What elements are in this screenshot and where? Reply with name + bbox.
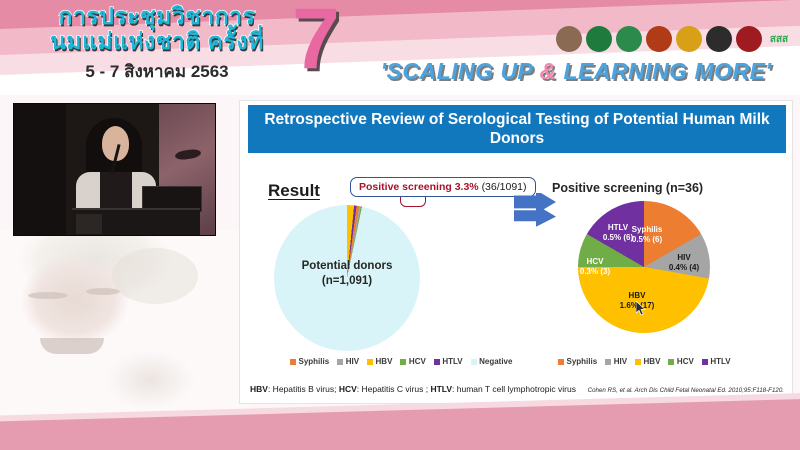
health-dept-logo — [616, 26, 642, 52]
callout-fraction: (36/1091) — [482, 181, 527, 193]
right-arrow-icon — [512, 193, 558, 233]
legend-label: HCV — [677, 357, 694, 366]
slice-label-htlv-value: 0.5% (6) — [596, 233, 640, 243]
legend-label: Syphilis — [299, 357, 330, 366]
legend-swatch-icon — [337, 359, 343, 365]
presentation-screen: การประชุมวิชาการ นมแม่แห่งชาติ ครั้งที่ … — [0, 0, 800, 450]
callout-leader-line — [400, 197, 426, 207]
pie-left-center-label: Potential donors (n=1,091) — [274, 259, 420, 289]
footnote-hbv-text: : Hepatitis B virus; — [268, 384, 339, 394]
legend-label: HTLV — [442, 357, 462, 366]
pie-left-label-line2: (n=1,091) — [274, 274, 420, 289]
conference-title-thai-line1: การประชุมวิชาการ — [22, 4, 292, 29]
slice-label-hiv-name: HIV — [662, 253, 706, 263]
legend-swatch-icon — [558, 359, 564, 365]
legend-item-hbv[interactable]: HBV — [367, 357, 392, 366]
slide-footnote: HBV: Hepatitis B virus; HCV: Hepatitis C… — [250, 384, 784, 394]
university-logo — [676, 26, 702, 52]
nurse-council-logo — [706, 26, 732, 52]
legend-label: HCV — [409, 357, 426, 366]
legend-label: HBV — [644, 357, 661, 366]
slice-label-hcv: HCV 0.3% (3) — [574, 257, 616, 277]
legend-item-syphilis[interactable]: Syphilis — [290, 357, 329, 366]
legend-label: HIV — [614, 357, 627, 366]
sponsor-logo-row: สสส — [556, 26, 792, 52]
legend-label: Negative — [479, 357, 512, 366]
slide-panel: Retrospective Review of Serological Test… — [239, 100, 793, 404]
legend-item-htlv[interactable]: HTLV — [434, 357, 463, 366]
legend-item-htlv[interactable]: HTLV — [702, 357, 731, 366]
slice-label-hiv-value: 0.4% (4) — [662, 263, 706, 273]
slice-label-hbv-name: HBV — [612, 291, 662, 301]
legend-item-syphilis[interactable]: Syphilis — [558, 357, 597, 366]
legend-item-hiv[interactable]: HIV — [337, 357, 359, 366]
legend-label: HTLV — [710, 357, 730, 366]
thaihealth-sss-logo: สสส — [766, 26, 792, 52]
legend-item-hbv[interactable]: HBV — [635, 357, 660, 366]
background-baby-photo — [0, 230, 250, 420]
source-citation: Cohen RS, et al. Arch Dis Child Fetal Ne… — [588, 387, 784, 394]
conference-date: 5 - 7 สิงหาคม 2563 — [22, 58, 292, 85]
edition-number: 7 — [292, 0, 340, 82]
legend-swatch-icon — [702, 359, 708, 365]
legend-swatch-icon — [434, 359, 440, 365]
legend-label: HIV — [346, 357, 359, 366]
legend-swatch-icon — [367, 359, 373, 365]
legend-item-hcv[interactable]: HCV — [668, 357, 693, 366]
footnote-htlv-text: : human T cell lymphotropic virus — [452, 384, 576, 394]
pediatric-society-logo — [646, 26, 672, 52]
legend-swatch-icon — [290, 359, 296, 365]
ministry-health-logo — [586, 26, 612, 52]
legend-item-hcv[interactable]: HCV — [400, 357, 425, 366]
royal-emblem-logo — [556, 26, 582, 52]
legend-item-negative[interactable]: Negative — [471, 357, 513, 366]
legend-label: Syphilis — [567, 357, 598, 366]
abbreviation-key: HBV: Hepatitis B virus; HCV: Hepatitis C… — [250, 384, 576, 394]
pie-right-title: Positive screening (n=36) — [552, 181, 703, 195]
footnote-htlv-key: HTLV — [430, 384, 452, 394]
conference-tagline: 'SCALING UP & LEARNING MORE' — [360, 58, 792, 85]
result-heading: Result — [268, 181, 320, 201]
legend-swatch-icon — [605, 359, 611, 365]
tagline-part-1: 'SCALING UP — [381, 58, 540, 84]
legend-potential-donors: SyphilisHIVHBVHCVHTLVNegative — [290, 357, 512, 366]
legend-swatch-icon — [635, 359, 641, 365]
mouse-cursor-icon — [636, 301, 648, 317]
slice-label-htlv-name: HTLV — [596, 223, 640, 233]
legend-swatch-icon — [400, 359, 406, 365]
conference-title-thai: การประชุมวิชาการ นมแม่แห่งชาติ ครั้งที่ — [22, 4, 292, 54]
legend-label: HBV — [376, 357, 393, 366]
footnote-hbv-key: HBV — [250, 384, 268, 394]
positive-screening-callout: Positive screening 3.3% (36/1091) — [350, 177, 536, 197]
slice-label-hcv-name: HCV — [574, 257, 616, 267]
legend-swatch-icon — [668, 359, 674, 365]
footnote-hcv-key: HCV — [339, 384, 357, 394]
footnote-hcv-text: : Hepatitis C virus ; — [357, 384, 431, 394]
callout-percent: Positive screening 3.3% — [359, 181, 479, 193]
medical-council-logo — [736, 26, 762, 52]
slice-label-htlv: HTLV 0.5% (6) — [596, 223, 640, 243]
podium-plate — [76, 214, 102, 234]
slice-label-hcv-value: 0.3% (3) — [574, 267, 616, 277]
conference-header-banner: การประชุมวิชาการ นมแม่แห่งชาติ ครั้งที่ … — [0, 0, 800, 95]
legend-swatch-icon — [471, 359, 477, 365]
tagline-part-2: LEARNING MORE' — [557, 58, 772, 84]
tagline-ampersand: & — [539, 58, 556, 84]
pie-left-label-line1: Potential donors — [274, 259, 420, 274]
video-backdrop-left — [14, 104, 66, 235]
slide-title: Retrospective Review of Serological Test… — [248, 105, 786, 153]
conference-title-thai-line2: นมแม่แห่งชาติ ครั้งที่ — [22, 29, 292, 54]
legend-item-hiv[interactable]: HIV — [605, 357, 627, 366]
legend-positive-screening: SyphilisHIVHBVHCVHTLV — [558, 357, 731, 366]
speaker-video-feed[interactable] — [13, 103, 216, 236]
slice-label-hiv: HIV 0.4% (4) — [662, 253, 706, 273]
